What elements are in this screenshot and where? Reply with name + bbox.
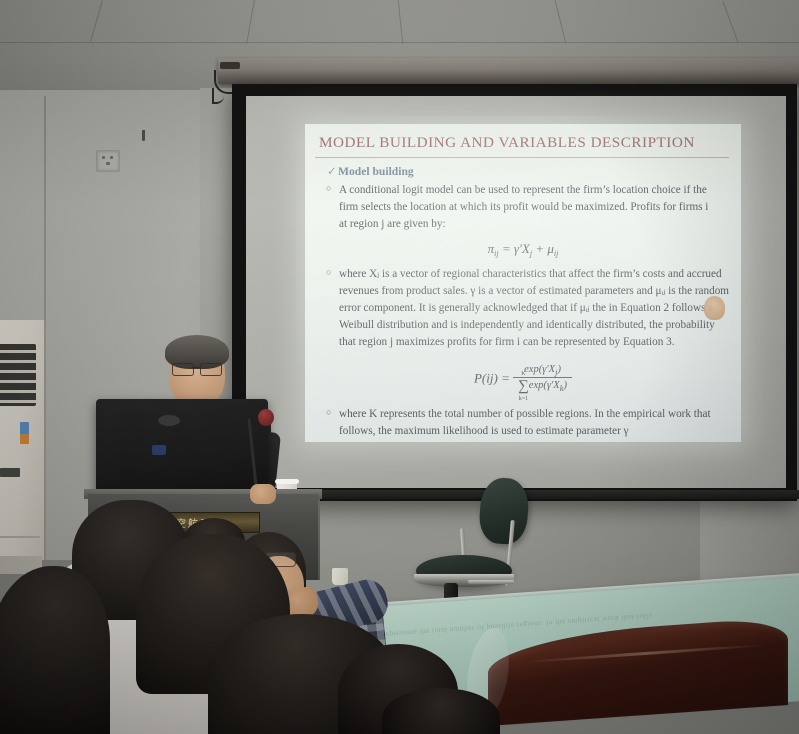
summation-icon: ∑Kk=1 (518, 378, 529, 395)
eq2-num-close: ) (557, 364, 561, 375)
presenter-monitor (96, 399, 268, 503)
wall-rail (262, 490, 799, 499)
eq2-den-close: ) (564, 380, 568, 391)
coffee-cup-lid (275, 479, 299, 484)
eq1-term1: γ′X (514, 241, 530, 256)
ceiling-grid-line (0, 42, 799, 43)
eq2-num-text: exp(γ′X (524, 364, 555, 375)
eq2-den-text: exp(γ′X (529, 380, 560, 391)
slide-bullet-3: ○ where K represents the total number of… (339, 406, 731, 440)
checkmark-bullet-icon: ✓ (327, 164, 338, 178)
air-conditioner (0, 320, 46, 560)
wall-outlet-icon (96, 150, 120, 172)
microphone-head-icon (258, 409, 274, 426)
audience-member-left-foreground (0, 566, 110, 734)
sum-lower-limit: k=1 (519, 396, 528, 402)
screen-roller-case (218, 58, 799, 84)
sum-upper-limit: K (521, 371, 525, 377)
slide-bullet-1: ○ A conditional logit model can be used … (339, 182, 719, 233)
lecture-photo-scene: MODEL BUILDING AND VARIABLES DESCRIPTION… (0, 0, 799, 734)
slide-bullet-3-text: where K represents the total number of p… (339, 408, 711, 437)
title-underline (315, 157, 729, 158)
ac-panel-seam (0, 536, 40, 538)
eq2-lhs: P(ij) (474, 370, 498, 385)
eq2-equals: = (501, 370, 510, 385)
slide-bullet-1-text: A conditional logit model can be used to… (339, 184, 708, 230)
bullet-glyph-icon: ○ (326, 266, 331, 280)
monitor-cable-connector (152, 445, 166, 455)
eq1-plus: + (535, 241, 544, 256)
presenter-hand (250, 484, 276, 504)
eq2-fraction: exp(γ′Xj) ∑Kk=1exp(γ′Xk) (513, 364, 572, 395)
slide-subheading-text: Model building (338, 165, 414, 178)
chair-frame-bar (468, 580, 514, 584)
sum-glyph: ∑ (518, 378, 529, 394)
silhouette-head-on-screen (704, 296, 725, 320)
projected-slide: MODEL BUILDING AND VARIABLES DESCRIPTION… (305, 124, 741, 442)
eq1-term2-sub: ij (554, 249, 558, 258)
slide-title: MODEL BUILDING AND VARIABLES DESCRIPTION (319, 134, 733, 152)
slide-bullet-2-text: where Xⱼ is a vector of regional charact… (339, 268, 729, 348)
eyeglasses-icon (172, 363, 222, 374)
bullet-glyph-icon: ○ (326, 182, 331, 196)
eq1-equals: = (502, 241, 511, 256)
ac-display-panel (0, 468, 20, 477)
slide-equation-2: P(ij) = exp(γ′Xj) ∑Kk=1exp(γ′Xk) (305, 364, 741, 395)
eq2-denominator: ∑Kk=1exp(γ′Xk) (513, 377, 572, 395)
wall-hook-icon (142, 130, 145, 141)
eq1-lhs-sub: ij (494, 249, 498, 258)
slide-equation-1: πij = γ′Xj + μij (305, 241, 741, 258)
cup-on-table (332, 568, 348, 585)
bullet-glyph-icon: ○ (326, 406, 331, 420)
slide-subheading: ✓Model building (327, 164, 414, 178)
slide-bullet-2: ○ where Xⱼ is a vector of regional chara… (339, 266, 733, 351)
ac-label (20, 422, 29, 444)
eq1-term1-sub: j (530, 249, 532, 258)
screen-roller-end-cap (220, 62, 240, 69)
ac-vent-icon (0, 344, 36, 406)
monitor-logo (158, 415, 180, 426)
